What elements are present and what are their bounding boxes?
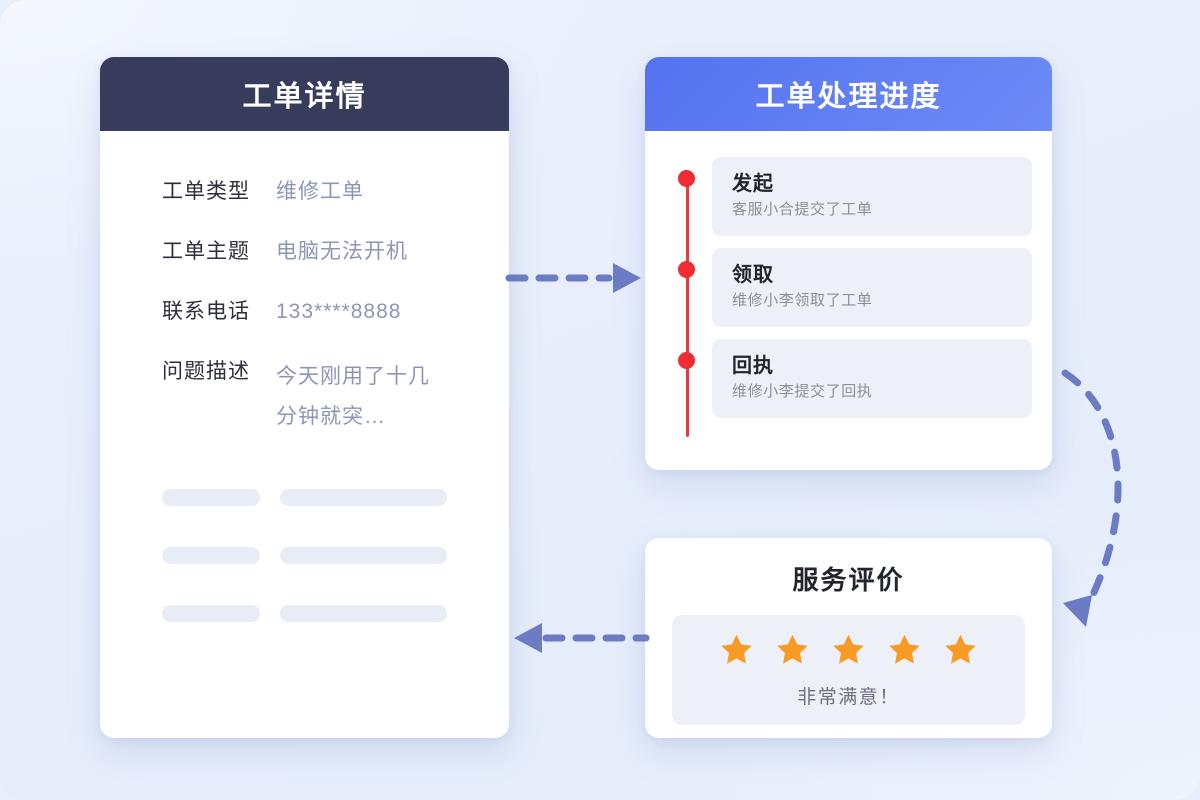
service-rating-title: 服务评价 [645, 560, 1052, 597]
ticket-detail-header: 工单详情 [100, 57, 509, 131]
timeline-step-title: 领取 [732, 261, 1032, 289]
detail-value-type: 维修工单 [276, 177, 364, 207]
detail-row-type: 工单类型 维修工单 [162, 177, 509, 207]
timeline-step-title: 发起 [732, 170, 1032, 198]
arrow-detail-to-progress-icon [505, 258, 645, 298]
arrow-progress-to-rating-icon [1045, 355, 1185, 645]
timeline-step-title: 回执 [732, 352, 1032, 380]
detail-label-type: 工单类型 [162, 177, 276, 207]
timeline-step-desc: 维修小李领取了工单 [732, 289, 1032, 313]
star-icon[interactable] [718, 632, 755, 668]
placeholder-row [162, 605, 509, 622]
star-icon[interactable] [774, 632, 811, 668]
timeline-step-claim[interactable]: 领取 维修小李领取了工单 [712, 248, 1032, 327]
star-icon[interactable] [830, 632, 867, 668]
ticket-progress-header: 工单处理进度 [645, 57, 1052, 131]
diagram-canvas: 工单详情 工单类型 维修工单 工单主题 电脑无法开机 联系电话 133****8… [0, 0, 1200, 800]
placeholder-bar-short [162, 489, 260, 506]
detail-label-phone: 联系电话 [162, 297, 276, 327]
star-icon[interactable] [886, 632, 923, 668]
timeline-dot-icon [678, 261, 695, 278]
placeholder-skeleton-group [100, 489, 509, 622]
placeholder-bar-long [280, 605, 447, 622]
placeholder-row [162, 489, 509, 506]
placeholder-bar-short [162, 605, 260, 622]
ticket-progress-title: 工单处理进度 [755, 73, 941, 115]
ticket-detail-body: 工单类型 维修工单 工单主题 电脑无法开机 联系电话 133****8888 问… [100, 131, 509, 622]
detail-row-phone: 联系电话 133****8888 [162, 297, 509, 327]
timeline-step-initiate[interactable]: 发起 客服小合提交了工单 [712, 157, 1032, 236]
ticket-progress-card: 工单处理进度 发起 客服小合提交了工单 领取 维修小李领取了工单 回执 [645, 57, 1052, 470]
timeline-step-desc: 客服小合提交了工单 [732, 198, 1032, 222]
detail-row-description: 问题描述 今天刚用了十几分钟就突… [162, 357, 509, 437]
placeholder-bar-long [280, 547, 447, 564]
placeholder-bar-short [162, 547, 260, 564]
ticket-detail-card: 工单详情 工单类型 维修工单 工单主题 电脑无法开机 联系电话 133****8… [100, 57, 509, 738]
service-rating-card: 服务评价 非常满意！ [645, 538, 1052, 738]
detail-value-subject: 电脑无法开机 [276, 237, 408, 267]
detail-row-subject: 工单主题 电脑无法开机 [162, 237, 509, 267]
arrow-rating-to-detail-icon [500, 618, 650, 658]
placeholder-row [162, 547, 509, 564]
service-rating-caption: 非常满意！ [672, 682, 1025, 709]
detail-label-subject: 工单主题 [162, 237, 276, 267]
timeline-dot-icon [678, 170, 695, 187]
star-icon[interactable] [942, 632, 979, 668]
detail-value-phone: 133****8888 [276, 297, 401, 327]
ticket-progress-body: 发起 客服小合提交了工单 领取 维修小李领取了工单 回执 维修小李提交了回执 [645, 131, 1052, 470]
star-rating[interactable] [672, 632, 1025, 668]
service-rating-box: 非常满意！ [672, 615, 1025, 725]
ticket-detail-title: 工单详情 [242, 73, 366, 115]
detail-value-description: 今天刚用了十几分钟就突… [276, 357, 446, 437]
timeline-step-receipt[interactable]: 回执 维修小李提交了回执 [712, 339, 1032, 418]
detail-label-description: 问题描述 [162, 357, 276, 387]
timeline-dot-icon [678, 352, 695, 369]
timeline-step-desc: 维修小李提交了回执 [732, 380, 1032, 404]
timeline-list: 发起 客服小合提交了工单 领取 维修小李领取了工单 回执 维修小李提交了回执 [645, 157, 1052, 418]
placeholder-bar-long [280, 489, 447, 506]
